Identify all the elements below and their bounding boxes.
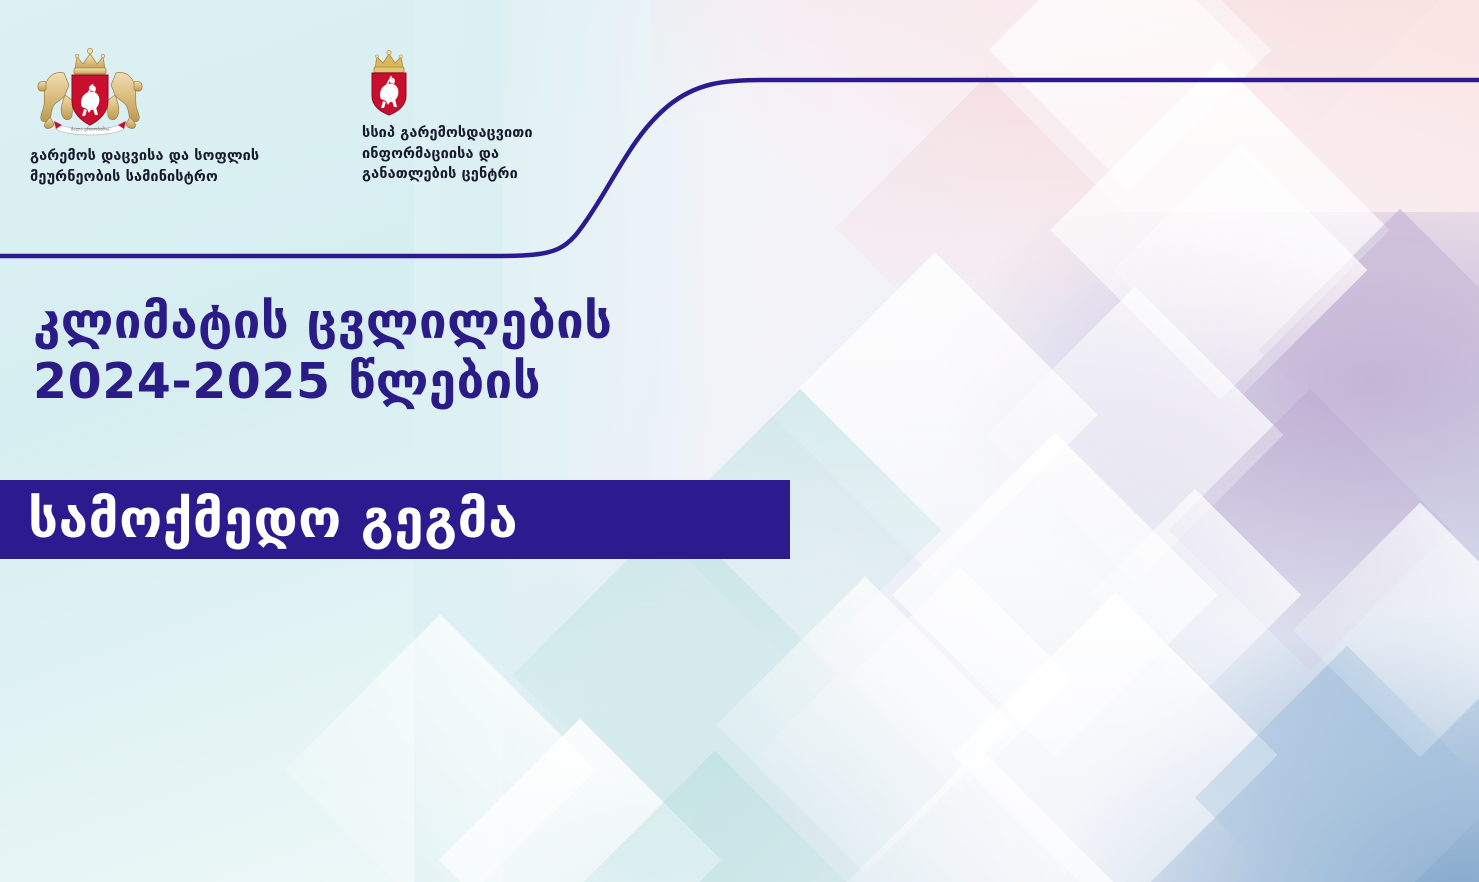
georgia-coat-of-arms-icon: ძალა ერთობაშია — [32, 45, 148, 141]
report-cover-page: ძალა ერთობაშია გარემოს დ — [0, 0, 1479, 882]
action-plan-banner-label: სამოქმედო გეგმა — [28, 493, 518, 546]
center-name-line-3: განათლების ცენტრი — [362, 164, 612, 185]
center-name-line-2: ინფორმაციისა და — [362, 144, 612, 165]
page-title-line-2: 2024-2025 წლების — [33, 352, 873, 412]
page-title-line-1: კლიმატის ცვლილების — [33, 292, 873, 352]
ministry-name: გარემოს დაცვისა და სოფლის მეურნეობის სამ… — [30, 146, 330, 187]
center-name-line-1: სსიპ გარემოსდაცვითი — [362, 123, 612, 144]
svg-text:ძალა ერთობაშია: ძალა ერთობაშია — [71, 126, 110, 133]
georgia-crowned-shield-icon — [362, 50, 416, 116]
ministry-name-line-1: გარემოს დაცვისა და სოფლის — [30, 146, 330, 167]
action-plan-banner: სამოქმედო გეგმა — [0, 480, 790, 559]
page-title: კლიმატის ცვლილების 2024-2025 წლების — [33, 292, 873, 412]
ministry-name-line-2: მეურნეობის სამინისტრო — [30, 167, 330, 188]
center-name: სსიპ გარემოსდაცვითი ინფორმაციისა და განა… — [362, 123, 612, 185]
